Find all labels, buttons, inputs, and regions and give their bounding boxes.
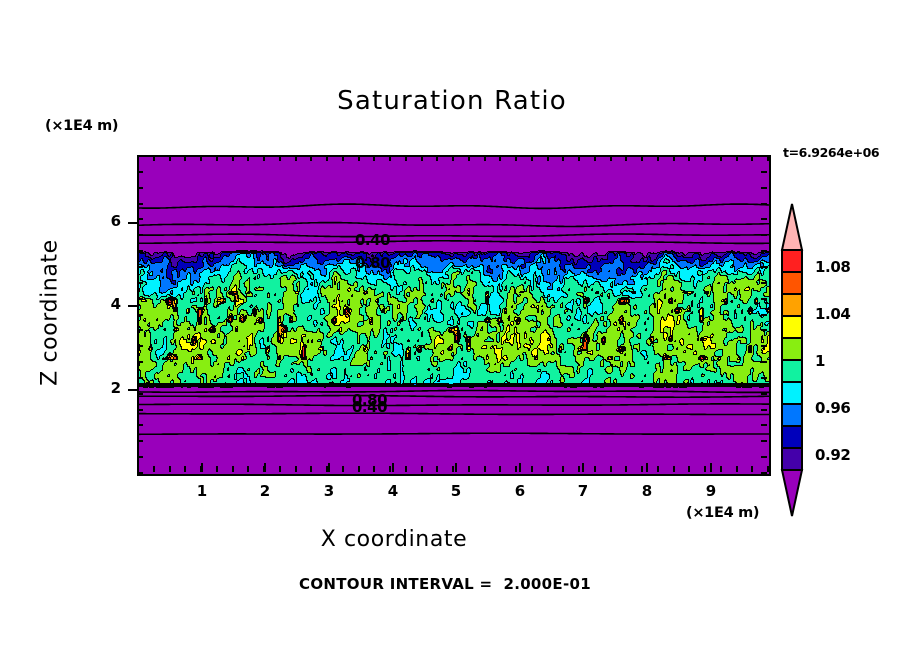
- y-axis-minor-tick: [761, 409, 767, 411]
- x-axis-minor-tick: [389, 466, 391, 472]
- x-tick-label: 9: [696, 482, 726, 500]
- y-axis-minor-tick: [137, 282, 143, 284]
- colorbar-band: [782, 316, 802, 338]
- y-axis-minor-tick: [761, 155, 767, 157]
- x-axis-minor-tick: [342, 466, 344, 472]
- x-axis-minor-tick: [531, 155, 533, 161]
- contour-label: 0.80: [355, 254, 390, 272]
- y-axis-minor-tick: [761, 393, 767, 395]
- colorbar-band: [782, 448, 802, 470]
- y-axis-units-label: (×1E4 m): [45, 118, 118, 134]
- x-axis-minor-tick: [153, 155, 155, 161]
- y-axis-minor-tick: [761, 203, 767, 205]
- colorbar-tick-label: 0.92: [815, 446, 850, 464]
- y-tick-label: 2: [91, 379, 121, 397]
- x-axis-minor-tick: [499, 466, 501, 472]
- x-axis-major-tick: [646, 463, 648, 472]
- colorbar-band: [782, 382, 802, 404]
- y-axis-minor-tick: [137, 345, 143, 347]
- x-axis-minor-tick: [515, 466, 517, 472]
- contour-interval-note: CONTOUR INTERVAL = 2.000E-01: [0, 575, 904, 593]
- x-axis-minor-tick: [704, 466, 706, 472]
- x-axis-minor-tick: [578, 466, 580, 472]
- x-axis-minor-tick: [405, 155, 407, 161]
- timestamp-label: t=6.9264e+06: [783, 145, 879, 160]
- y-axis-minor-tick: [137, 234, 143, 236]
- colorbar-band: [782, 294, 802, 316]
- colorbar-tick-label: 1.04: [815, 305, 850, 323]
- x-axis-minor-tick: [641, 155, 643, 161]
- x-axis-minor-tick: [531, 466, 533, 472]
- x-axis-minor-tick: [720, 155, 722, 161]
- x-axis-minor-tick: [751, 155, 753, 161]
- x-axis-title: X coordinate: [0, 527, 904, 552]
- x-axis-minor-tick: [405, 466, 407, 472]
- y-axis-minor-tick: [761, 250, 767, 252]
- x-axis-minor-tick: [310, 466, 312, 472]
- x-axis-minor-tick: [184, 466, 186, 472]
- y-axis-minor-tick: [137, 155, 143, 157]
- x-axis-minor-tick: [279, 466, 281, 472]
- y-axis-minor-tick: [137, 203, 143, 205]
- x-axis-minor-tick: [515, 155, 517, 161]
- x-axis-major-tick: [328, 463, 330, 472]
- colorbar-band: [782, 426, 802, 448]
- x-axis-minor-tick: [169, 155, 171, 161]
- x-axis-minor-tick: [484, 155, 486, 161]
- page-title: Saturation Ratio: [0, 86, 904, 116]
- x-axis-minor-tick: [232, 155, 234, 161]
- x-axis-minor-tick: [547, 155, 549, 161]
- y-axis-minor-tick: [761, 282, 767, 284]
- y-axis-major-tick: [128, 389, 137, 391]
- x-axis-minor-tick: [389, 155, 391, 161]
- y-axis-minor-tick: [761, 472, 767, 474]
- x-axis-minor-tick: [594, 466, 596, 472]
- y-axis-minor-tick: [137, 472, 143, 474]
- y-axis-minor-tick: [137, 250, 143, 252]
- x-axis-minor-tick: [373, 466, 375, 472]
- x-axis-minor-tick: [625, 155, 627, 161]
- x-axis-minor-tick: [263, 155, 265, 161]
- x-axis-minor-tick: [436, 155, 438, 161]
- y-axis-minor-tick: [137, 440, 143, 442]
- y-axis-minor-tick: [137, 329, 143, 331]
- x-axis-minor-tick: [184, 155, 186, 161]
- x-axis-minor-tick: [232, 466, 234, 472]
- x-axis-minor-tick: [295, 155, 297, 161]
- contour-interval-text: CONTOUR INTERVAL = 2.000E-01: [299, 575, 591, 593]
- y-axis-minor-tick: [137, 187, 143, 189]
- x-axis-major-tick: [582, 463, 584, 472]
- x-axis-minor-tick: [468, 155, 470, 161]
- x-axis-minor-tick: [326, 155, 328, 161]
- y-axis-minor-tick: [761, 345, 767, 347]
- y-axis-minor-tick: [761, 266, 767, 268]
- x-axis-minor-tick: [169, 466, 171, 472]
- y-axis-minor-tick: [761, 171, 767, 173]
- x-axis-minor-tick: [247, 155, 249, 161]
- y-axis-minor-tick: [761, 329, 767, 331]
- y-axis-major-tick: [128, 305, 137, 307]
- x-axis-minor-tick: [673, 466, 675, 472]
- y-axis-title: Z coordinate: [38, 203, 63, 423]
- x-axis-minor-tick: [421, 155, 423, 161]
- y-axis-minor-tick: [137, 266, 143, 268]
- x-axis-minor-tick: [767, 466, 769, 472]
- y-axis-minor-tick: [761, 424, 767, 426]
- x-axis-major-tick: [201, 463, 203, 472]
- y-axis-minor-tick: [137, 361, 143, 363]
- x-axis-minor-tick: [657, 155, 659, 161]
- x-axis-minor-tick: [562, 466, 564, 472]
- x-tick-label: 5: [441, 482, 471, 500]
- contour-plot-area: [137, 155, 771, 476]
- x-axis-minor-tick: [421, 466, 423, 472]
- x-axis-major-tick: [392, 463, 394, 472]
- x-axis-minor-tick: [452, 466, 454, 472]
- contour-label: 0.40: [355, 231, 390, 249]
- x-axis-minor-tick: [736, 155, 738, 161]
- x-axis-minor-tick: [468, 466, 470, 472]
- x-axis-minor-tick: [200, 155, 202, 161]
- colorbar-band: [782, 360, 802, 382]
- y-axis-minor-tick: [761, 234, 767, 236]
- y-axis-minor-tick: [137, 314, 143, 316]
- x-tick-label: 1: [187, 482, 217, 500]
- colorbar: [780, 203, 804, 517]
- x-axis-minor-tick: [657, 466, 659, 472]
- x-axis-minor-tick: [641, 466, 643, 472]
- x-tick-label: 2: [250, 482, 280, 500]
- y-axis-minor-tick: [761, 377, 767, 379]
- colorbar-band: [782, 338, 802, 360]
- y-axis-minor-tick: [761, 314, 767, 316]
- y-axis-minor-tick: [137, 171, 143, 173]
- x-axis-minor-tick: [704, 155, 706, 161]
- y-axis-minor-tick: [761, 361, 767, 363]
- colorbar-band: [782, 404, 802, 426]
- y-axis-minor-tick: [137, 424, 143, 426]
- x-axis-minor-tick: [547, 466, 549, 472]
- x-tick-label: 3: [314, 482, 344, 500]
- x-axis-title-text: X coordinate: [321, 527, 468, 552]
- y-tick-label: 6: [91, 212, 121, 230]
- x-axis-minor-tick: [358, 155, 360, 161]
- x-axis-minor-tick: [153, 466, 155, 472]
- colorbar-band: [782, 250, 802, 272]
- x-tick-label: 6: [505, 482, 535, 500]
- x-axis-minor-tick: [767, 155, 769, 161]
- colorbar-tick-label: 1.08: [815, 258, 850, 276]
- y-axis-minor-tick: [761, 187, 767, 189]
- x-axis-minor-tick: [279, 155, 281, 161]
- x-axis-minor-tick: [673, 155, 675, 161]
- x-axis-minor-tick: [720, 466, 722, 472]
- x-axis-minor-tick: [688, 466, 690, 472]
- y-axis-minor-tick: [137, 377, 143, 379]
- x-axis-major-tick: [264, 463, 266, 472]
- y-axis-minor-tick: [137, 218, 143, 220]
- x-axis-units-label: (×1E4 m): [686, 505, 759, 521]
- colorbar-tick-label: 1: [815, 352, 825, 370]
- x-axis-minor-tick: [358, 466, 360, 472]
- y-axis-minor-tick: [137, 298, 143, 300]
- x-axis-minor-tick: [594, 155, 596, 161]
- y-tick-label: 4: [91, 295, 121, 313]
- x-axis-minor-tick: [688, 155, 690, 161]
- x-axis-minor-tick: [342, 155, 344, 161]
- x-axis-minor-tick: [310, 155, 312, 161]
- x-axis-minor-tick: [736, 466, 738, 472]
- x-axis-minor-tick: [499, 155, 501, 161]
- x-axis-major-tick: [519, 463, 521, 472]
- x-axis-minor-tick: [625, 466, 627, 472]
- x-axis-minor-tick: [751, 466, 753, 472]
- y-axis-minor-tick: [137, 393, 143, 395]
- y-axis-minor-tick: [761, 298, 767, 300]
- x-axis-minor-tick: [610, 155, 612, 161]
- y-axis-minor-tick: [137, 409, 143, 411]
- colorbar-band: [782, 272, 802, 294]
- x-tick-label: 7: [568, 482, 598, 500]
- colorbar-cap-bottom: [782, 470, 802, 516]
- colorbar-svg: [780, 203, 804, 517]
- y-axis-minor-tick: [761, 218, 767, 220]
- x-axis-minor-tick: [247, 466, 249, 472]
- figure-root: Saturation Ratio (×1E4 m) t=6.9264e+06 0…: [0, 0, 904, 654]
- x-axis-minor-tick: [610, 466, 612, 472]
- contour-label: 0.40: [352, 398, 387, 416]
- x-axis-minor-tick: [484, 466, 486, 472]
- x-axis-major-tick: [455, 463, 457, 472]
- x-axis-minor-tick: [452, 155, 454, 161]
- colorbar-tick-label: 0.96: [815, 399, 850, 417]
- colorbar-cap-top: [782, 204, 802, 250]
- x-axis-minor-tick: [436, 466, 438, 472]
- y-axis-major-tick: [128, 222, 137, 224]
- x-tick-label: 4: [378, 482, 408, 500]
- x-axis-major-tick: [710, 463, 712, 472]
- y-axis-minor-tick: [761, 456, 767, 458]
- x-axis-minor-tick: [216, 155, 218, 161]
- x-axis-minor-tick: [578, 155, 580, 161]
- y-axis-minor-tick: [137, 456, 143, 458]
- x-axis-minor-tick: [295, 466, 297, 472]
- y-axis-minor-tick: [761, 440, 767, 442]
- x-axis-minor-tick: [373, 155, 375, 161]
- x-tick-label: 8: [632, 482, 662, 500]
- contour-field-canvas: [139, 157, 769, 474]
- x-axis-minor-tick: [562, 155, 564, 161]
- x-axis-minor-tick: [216, 466, 218, 472]
